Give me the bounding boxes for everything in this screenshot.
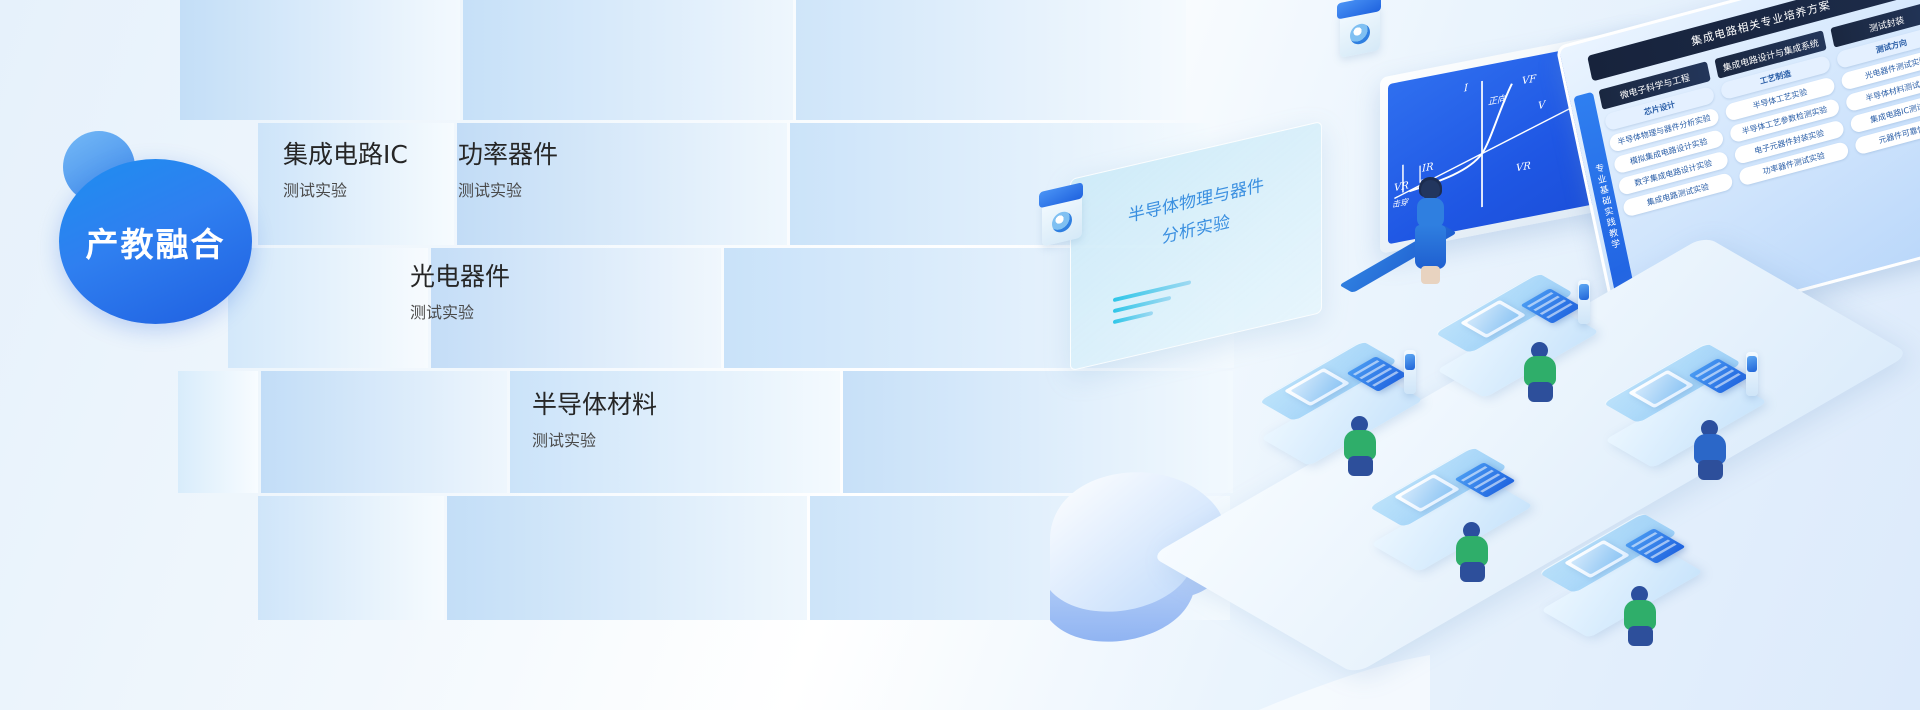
axis-label-current: I — [1464, 83, 1468, 95]
lab-illustration: 半导体物理与器件 分析实验 I — [1060, 0, 1920, 710]
banner-stage: 产教融合 集成电路IC 测试实验 功率器件 测试实验 光电器件 测试实验 半导体… — [0, 0, 1920, 710]
student-figure — [1690, 420, 1730, 480]
module-subtitle: 测试实验 — [532, 427, 657, 451]
flowchart-column-0: 微电子科学与工程 芯片设计 半导体物理与器件分析实验 模拟集成电路设计实验 数字… — [1598, 61, 1734, 222]
module-subtitle: 测试实验 — [410, 299, 510, 323]
module-label-1[interactable]: 功率器件 测试实验 — [458, 140, 558, 201]
ir-label: IR — [1422, 161, 1433, 174]
camera-icon-top — [1340, 4, 1380, 58]
equipment-pole — [1746, 352, 1758, 396]
module-title: 集成电路IC — [283, 140, 408, 170]
badge-main-circle: 产教融合 — [59, 159, 252, 324]
equipment-pole — [1404, 350, 1416, 394]
module-title: 半导体材料 — [532, 390, 657, 420]
axis-label-voltage: V — [1538, 100, 1545, 112]
student-figure — [1340, 416, 1380, 476]
camera-icon-left — [1042, 191, 1082, 246]
module-title: 光电器件 — [410, 262, 510, 292]
student-figure — [1452, 522, 1492, 582]
badge-label: 产教融合 — [86, 218, 226, 266]
module-label-2[interactable]: 光电器件 测试实验 — [410, 262, 510, 323]
isometric-lab-scene — [1190, 230, 1920, 680]
module-label-0[interactable]: 集成电路IC 测试实验 — [283, 140, 408, 201]
glass-panel-decor-lines — [1113, 280, 1191, 331]
module-label-3[interactable]: 半导体材料 测试实验 — [532, 390, 657, 451]
flowchart-column-1: 集成电路设计与集成系统 工艺制造 半导体工艺实验 半导体工艺参数检测实验 电子元… — [1714, 30, 1850, 191]
teacher-figure — [1408, 180, 1454, 290]
brand-badge: 产教融合 — [55, 125, 275, 325]
equipment-pole — [1578, 280, 1590, 324]
module-title: 功率器件 — [458, 140, 558, 170]
student-figure — [1620, 586, 1660, 646]
module-subtitle: 测试实验 — [283, 177, 408, 201]
student-figure — [1520, 342, 1560, 402]
module-subtitle: 测试实验 — [458, 177, 558, 201]
